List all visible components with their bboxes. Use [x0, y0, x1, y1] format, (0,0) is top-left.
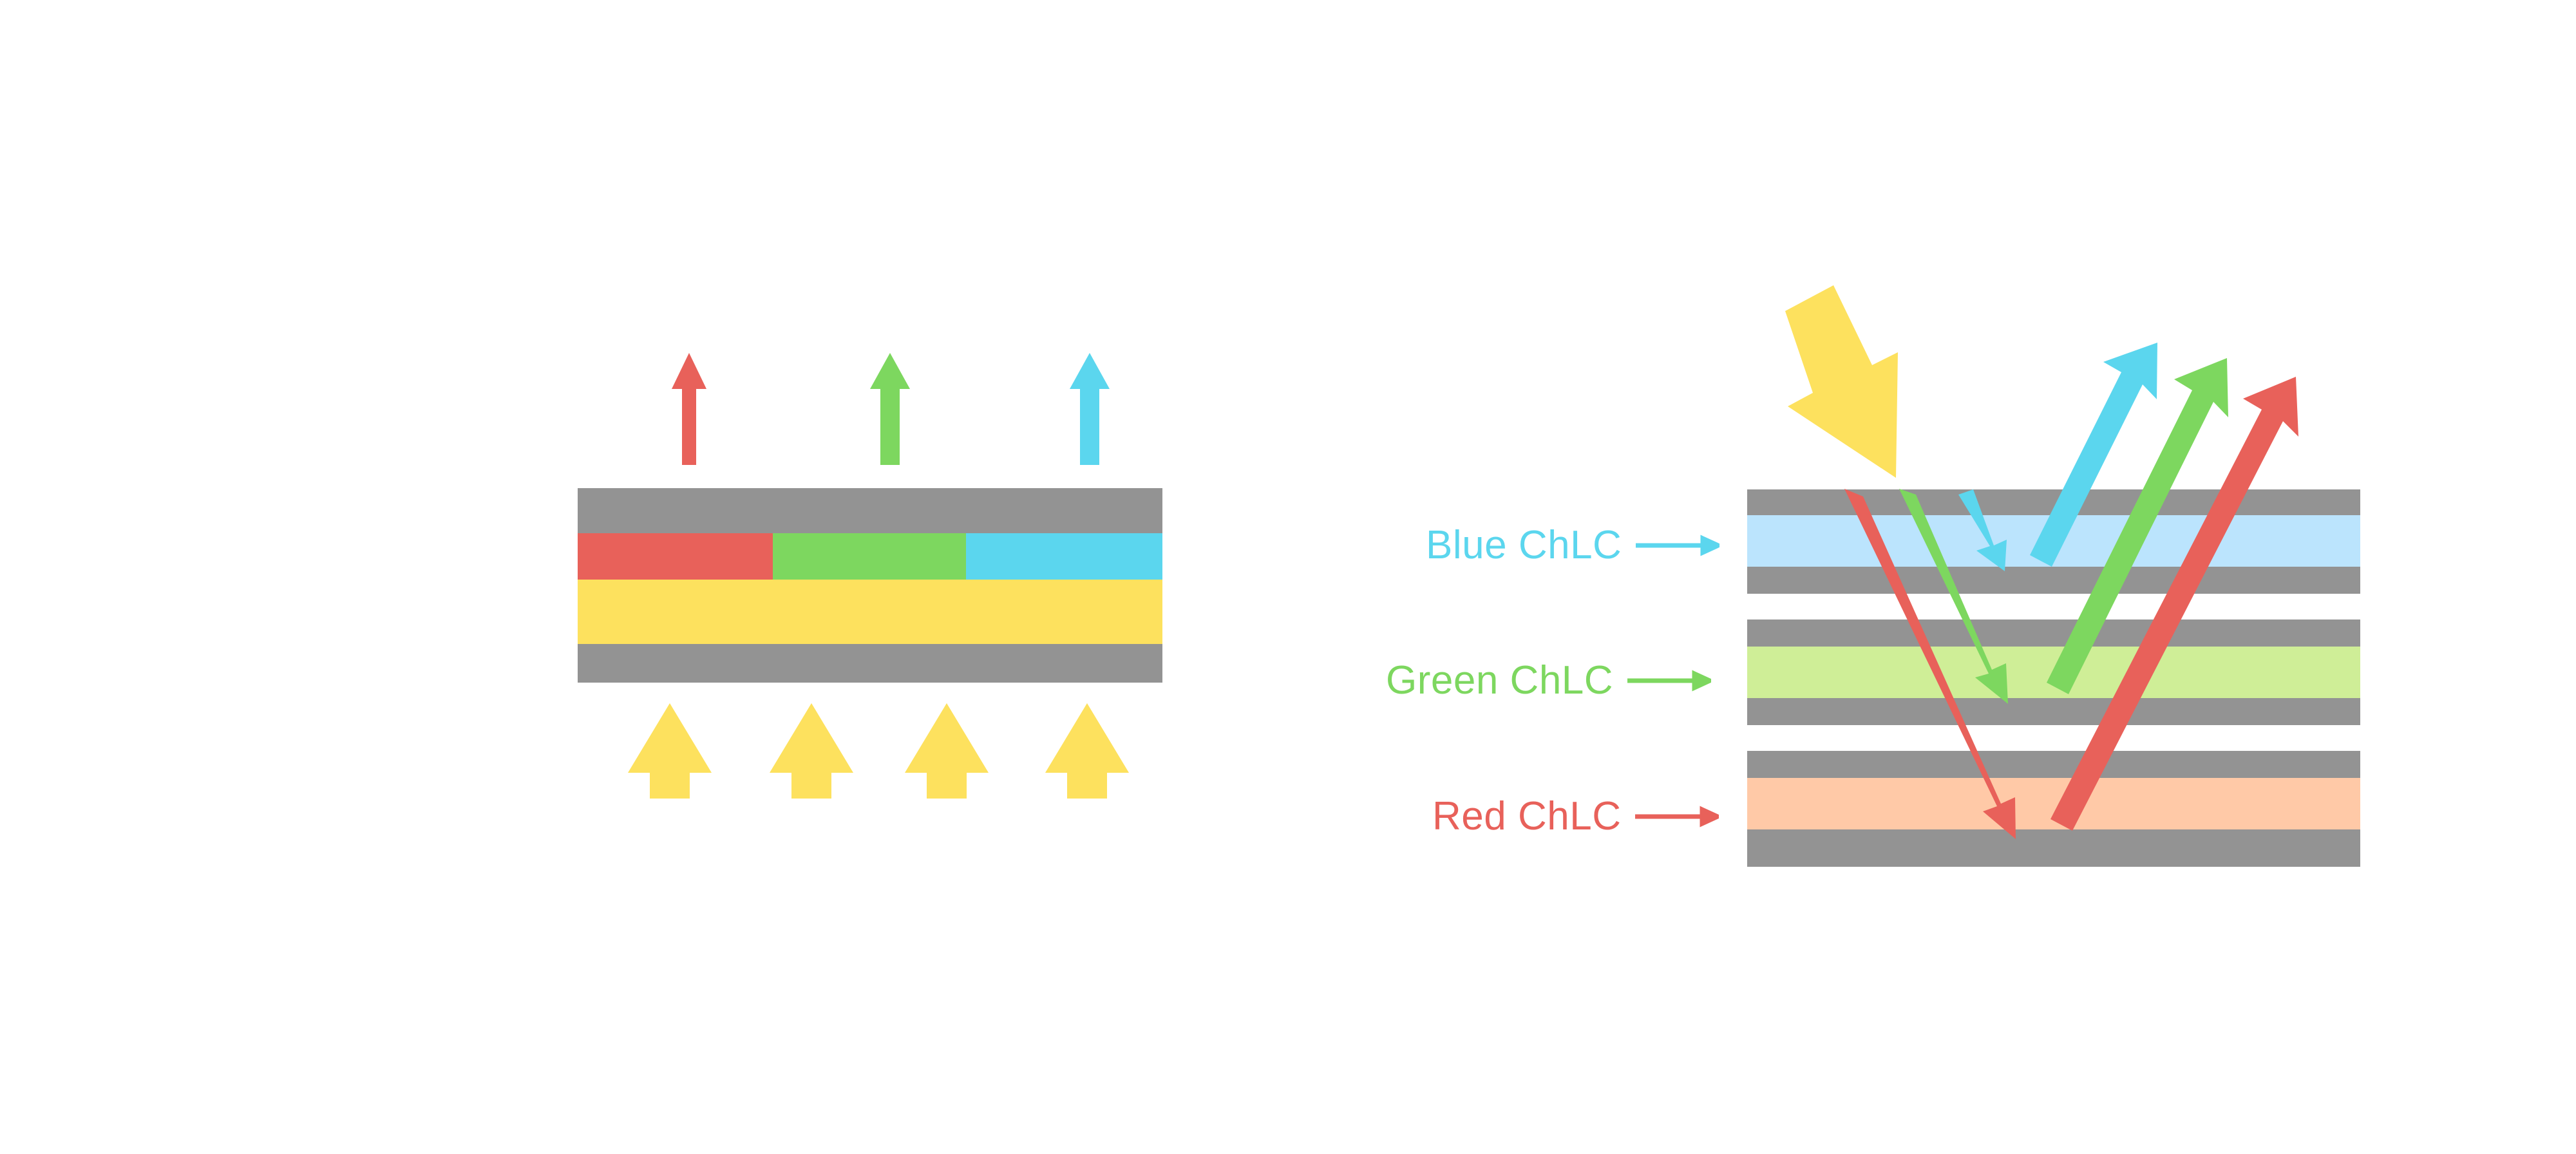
- red-chlc-bottom-electrode: [1747, 829, 2360, 867]
- blue-chlc-label-arrow-icon: [1636, 525, 1719, 565]
- blue-chlc-bottom-electrode: [1747, 567, 2360, 594]
- green-chlc-label-arrow-icon: [1627, 661, 1711, 701]
- green-chlc-label: Green ChLC: [1386, 658, 1711, 701]
- green-chlc-label-text: Green ChLC: [1386, 661, 1613, 701]
- red-chlc-label-text: Red ChLC: [1432, 797, 1621, 837]
- diagram-canvas: Blue ChLC Green ChLC Red ChLC: [0, 0, 2576, 1154]
- green-chlc-top-electrode: [1747, 620, 2360, 647]
- green-chlc-bottom-electrode: [1747, 698, 2360, 725]
- red-chlc-label: Red ChLC: [1432, 794, 1719, 837]
- red-chlc-layer: [1747, 778, 2360, 829]
- incident-white-light-arrow: [1785, 285, 1898, 478]
- red-chlc-top-electrode: [1747, 751, 2360, 778]
- blue-chlc-label-text: Blue ChLC: [1426, 525, 1622, 565]
- right-panel-graphics: [0, 0, 2576, 1154]
- right-panel-chlc-stack: Blue ChLC Green ChLC Red ChLC: [0, 0, 2576, 1154]
- red-chlc-label-arrow-icon: [1635, 797, 1719, 837]
- blue-chlc-label: Blue ChLC: [1426, 523, 1719, 565]
